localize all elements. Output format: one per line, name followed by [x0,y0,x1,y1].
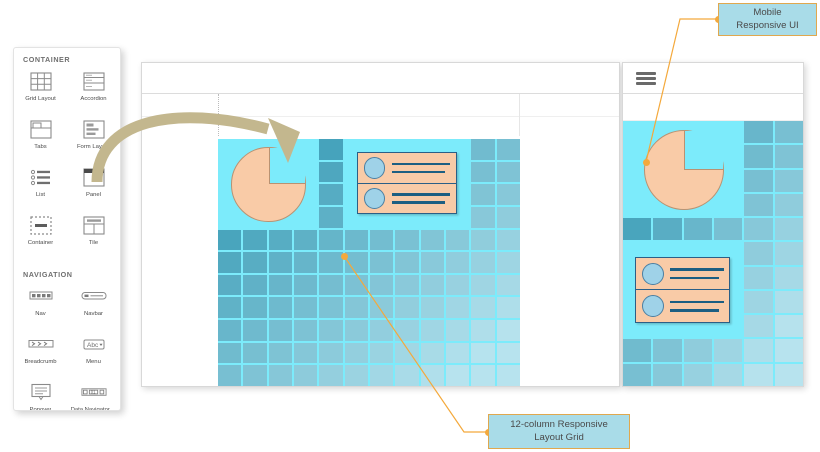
grid-cell [421,275,444,296]
list-item-line [392,201,445,203]
grid-cell [471,343,494,364]
grid-cell [497,139,520,160]
list-item-text-lines [392,163,450,174]
grid-cell [319,207,342,228]
grid-cell [269,320,292,341]
list-item[interactable] [636,289,729,322]
screenshot-stage: CONTAINER Grid Layout Accordion [0,0,820,452]
grid-cell [395,275,418,296]
palette-item-container[interactable]: Container [14,211,67,259]
palette-item-tabs[interactable]: Tabs [14,115,67,163]
grid-cell [370,343,393,364]
avatar [642,295,664,317]
grid-cell [319,139,342,160]
grid-cell [370,252,393,273]
grid-cell [421,320,444,341]
palette-item-menu[interactable]: Abc Menu [67,330,120,378]
callout-line-1: 12-column Responsive [510,419,608,432]
grid-cell [370,297,393,318]
palette-item-label: List [36,192,45,198]
list-item-line [670,277,719,279]
palette-section-title: NAVIGATION [14,263,120,282]
data-navigator-icon: 01 [81,381,107,403]
grid-cell [775,315,803,337]
grid-cell [243,320,266,341]
grid-cell [653,364,681,386]
grid-cell [497,184,520,205]
palette-item-label: Accordion [80,96,106,102]
breadcrumb-icon [28,333,54,355]
grid-cell [775,145,803,167]
grid-cell [446,343,469,364]
grid-cell [269,275,292,296]
grid-cell [775,242,803,264]
grid-cell [471,320,494,341]
palette-item-label: Panel [86,192,101,198]
grid-cell [775,170,803,192]
grid-cell [370,320,393,341]
grid-cell [471,207,494,228]
nav-icon [28,285,54,307]
palette-items-container: Grid Layout Accordion Tabs [14,67,120,259]
grid-cell [395,297,418,318]
pie-chart-widget[interactable] [644,130,724,210]
grid-cell [471,139,494,160]
grid-cell [218,230,241,251]
mobile-target-dot [643,159,650,166]
grid-cell [497,297,520,318]
grid-cell [243,365,266,386]
list-item[interactable] [358,153,456,182]
grid-cell [269,343,292,364]
grid-cell [421,297,444,318]
palette-item-label: Nav [35,311,45,317]
palette-item-label: Menu [86,359,101,365]
grid-cell [497,230,520,251]
grid-cell [446,297,469,318]
grid-cell [497,343,520,364]
grid-cell [744,315,772,337]
callout-text: 12-column Responsive Layout Grid [510,419,608,444]
grid-cell [775,194,803,216]
list-item-line [392,193,450,195]
palette-item-list[interactable]: List [14,163,67,211]
grid-cell [243,297,266,318]
list-item-line [670,301,723,303]
grid-cell [653,339,681,361]
palette-item-label: Form Layout [77,144,110,150]
grid-cell [497,162,520,183]
callout-text: Mobile Responsive UI [736,7,798,32]
grid-cell [294,343,317,364]
grid-cell [446,275,469,296]
grid-cell [471,162,494,183]
desktop-toolbar-bar [142,94,619,117]
grid-cell [218,252,241,273]
pie-chart-widget[interactable] [231,147,306,222]
grid-cell [775,291,803,313]
avatar [364,188,385,209]
grid-cell [744,194,772,216]
grid-cell [421,365,444,386]
callout-line-2: Layout Grid [510,432,608,445]
callout-mobile-responsive-ui[interactable]: Mobile Responsive UI [718,3,817,36]
grid-cell [269,365,292,386]
grid-cell [319,184,342,205]
container-icon [28,214,54,236]
grid-cell [345,320,368,341]
grid-cell [744,121,772,143]
grid-cell [471,297,494,318]
grid-cell [471,184,494,205]
palette-item-data-navigator[interactable]: 01 Data Navigator ... [67,378,120,411]
list-item-line [670,309,719,311]
mobile-preview-window[interactable] [622,62,804,387]
grid-cell [294,297,317,318]
grid-cell [395,343,418,364]
grid-cell [446,252,469,273]
list-item-text-lines [670,268,723,279]
palette-item-navbar[interactable]: Navbar [67,282,120,330]
palette-section-navigation: NAVIGATION Nav Navbar [14,263,120,411]
grid-cell [446,230,469,251]
tile-icon [81,214,107,236]
grid-layout-icon [28,70,54,92]
palette-item-panel[interactable]: Panel [67,163,120,211]
palette-item-label: Navbar [84,311,103,317]
palette-item-form-layout[interactable]: Form Layout [67,115,120,163]
grid-cell [319,252,342,273]
desktop-responsive-grid[interactable] [218,139,520,386]
callout-line-1: Mobile [736,7,798,20]
palette-item-label: Popover [30,407,52,411]
grid-cell [623,339,651,361]
grid-cell [243,230,266,251]
grid-cell [370,275,393,296]
desktop-guide-left [218,94,219,136]
grid-cell [218,297,241,318]
grid-cell [775,218,803,240]
palette-item-label: Grid Layout [25,96,55,102]
grid-cell [446,365,469,386]
grid-cell [714,364,742,386]
palette-item-label: Breadcrumb [24,359,56,365]
grid-cell [345,365,368,386]
grid-cell [623,364,651,386]
list-item-line [392,163,450,165]
grid-cell [471,252,494,273]
palette-item-label: Container [28,240,54,246]
grid-cell [684,218,712,240]
list-item-text-lines [670,301,723,312]
grid-cell [319,230,342,251]
component-palette[interactable]: CONTAINER Grid Layout Accordion [13,47,121,411]
grid-cell [446,320,469,341]
desktop-preview-window[interactable] [141,62,620,387]
panel-icon [81,166,107,188]
grid-cell [497,320,520,341]
grid-cell [744,364,772,386]
grid-cell [471,230,494,251]
grid-cell [497,275,520,296]
avatar [364,157,385,178]
grid-cell [744,291,772,313]
palette-item-popover[interactable]: Popover [14,378,67,411]
grid-cell [421,252,444,273]
grid-cell [319,365,342,386]
accordion-icon [81,70,107,92]
palette-item-nav[interactable]: Nav [14,282,67,330]
grid-cell [421,230,444,251]
grid-cell [243,252,266,273]
grid-cell [684,364,712,386]
grid-cell [497,365,520,386]
grid-cell [370,230,393,251]
grid-cell [269,252,292,273]
palette-item-label: Data Navigator ... [71,407,117,411]
grid-cell [218,275,241,296]
mobile-header-bar [623,63,803,94]
grid-cell [775,339,803,361]
svg-text:Abc: Abc [87,342,99,349]
grid-cell [744,218,772,240]
grid-cell [395,320,418,341]
palette-section-container: CONTAINER Grid Layout Accordion [14,48,120,259]
grid-cell [294,275,317,296]
grid-cell [395,252,418,273]
grid-cell [395,365,418,386]
grid-cell [744,267,772,289]
grid-cell [471,275,494,296]
grid-cell [294,252,317,273]
mobile-responsive-grid[interactable] [623,121,803,386]
callout-12-column-grid[interactable]: 12-column Responsive Layout Grid [488,414,630,449]
avatar [642,263,664,285]
list-item-line [670,268,723,270]
list-item[interactable] [358,183,456,213]
palette-item-breadcrumb[interactable]: Breadcrumb [14,330,67,378]
grid-cell [775,267,803,289]
grid-cell [345,252,368,273]
grid-cell [218,365,241,386]
palette-items-container: Nav Navbar Breadcrumb Abc [14,282,120,411]
grid-cell [345,275,368,296]
grid-cell [319,297,342,318]
list-widget[interactable] [635,257,730,324]
pie-slice-cutout [684,131,723,170]
grid-cell [497,252,520,273]
grid-cell [319,343,342,364]
grid-cell [775,121,803,143]
tabs-icon [28,118,54,140]
grid-cell [218,320,241,341]
grid-cell [623,218,651,240]
grid-cell [653,218,681,240]
grid-cell [269,297,292,318]
palette-item-label: Tile [89,240,98,246]
grid-cell [744,170,772,192]
grid-target-dot [341,253,348,260]
grid-cell [744,145,772,167]
form-layout-icon [81,118,107,140]
grid-cell [744,339,772,361]
grid-cell [471,365,494,386]
list-item-text-lines [392,193,450,204]
grid-cell [294,230,317,251]
popover-icon [28,381,54,403]
grid-cell [319,162,342,183]
list-item-line [392,171,445,173]
grid-cell [345,230,368,251]
palette-item-tile[interactable]: Tile [67,211,120,259]
palette-item-grid-layout[interactable]: Grid Layout [14,67,67,115]
grid-cell [370,365,393,386]
grid-cell [345,343,368,364]
grid-cell [345,297,368,318]
callout-line-2: Responsive UI [736,20,798,33]
grid-cell [395,230,418,251]
grid-cell [744,242,772,264]
grid-cell [319,320,342,341]
pie-slice-cutout [269,148,305,184]
grid-cell [714,339,742,361]
grid-cell [294,320,317,341]
grid-cell [319,275,342,296]
palette-item-accordion[interactable]: Accordion [67,67,120,115]
grid-cell [775,364,803,386]
navbar-icon [81,285,107,307]
palette-item-label: Tabs [34,144,46,150]
grid-cell [714,218,742,240]
grid-cell [294,365,317,386]
palette-section-title: CONTAINER [14,48,120,67]
menu-icon: Abc [81,333,107,355]
grid-cell [218,343,241,364]
grid-cell [421,343,444,364]
grid-cell [243,275,266,296]
list-widget[interactable] [357,152,457,214]
list-item[interactable] [636,258,729,290]
mobile-toolbar-bar [623,94,803,121]
grid-cell [269,230,292,251]
grid-cell [243,343,266,364]
desktop-guide-right [519,94,520,136]
list-icon [28,166,54,188]
hamburger-menu-icon[interactable] [636,72,656,85]
desktop-header-bar [142,63,619,94]
svg-text:01: 01 [90,389,95,394]
grid-cell [497,207,520,228]
grid-cell [684,339,712,361]
